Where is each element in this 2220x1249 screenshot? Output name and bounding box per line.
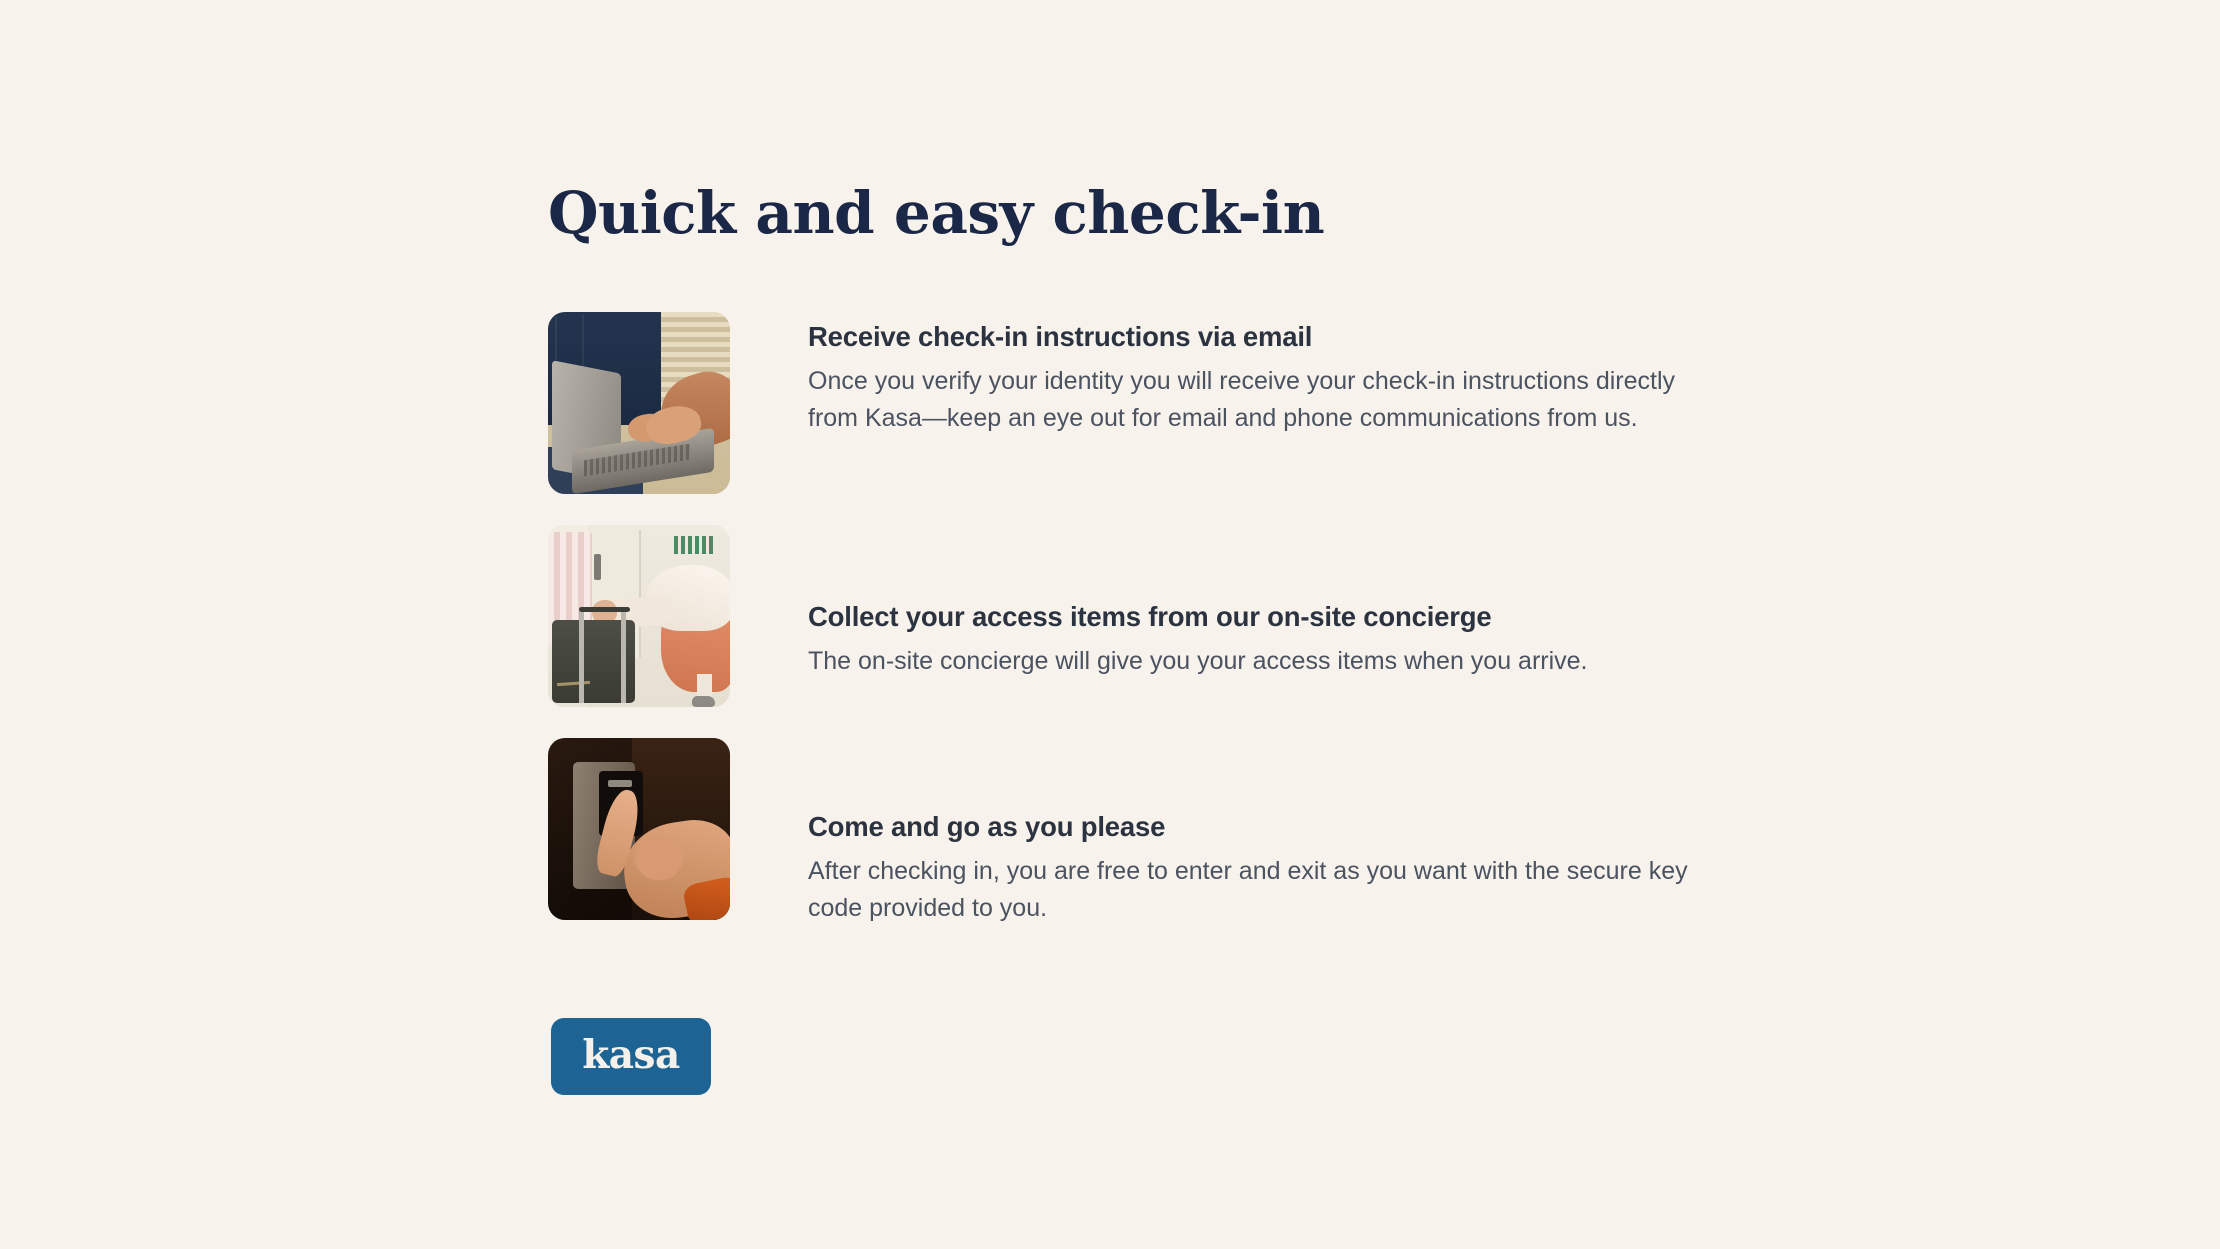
page-title: Quick and easy check-in bbox=[548, 182, 1324, 246]
laptop-scene-illustration bbox=[548, 312, 730, 494]
list-item: Come and go as you please After checking… bbox=[548, 738, 1848, 927]
lock-led-shape bbox=[608, 780, 632, 787]
kasa-logo-text: kasa bbox=[582, 1036, 680, 1078]
luggage-handle-grip-shape bbox=[579, 607, 630, 612]
door-handle-shape bbox=[594, 554, 601, 579]
exit-sign-shape bbox=[674, 536, 714, 554]
list-item: Receive check-in instructions via email … bbox=[548, 312, 1848, 494]
check-in-steps-list: Receive check-in instructions via email … bbox=[548, 312, 1848, 958]
step-body: Collect your access items from our on-si… bbox=[808, 525, 1588, 680]
kasa-logo: kasa bbox=[551, 1018, 711, 1095]
luggage-handle-bar-shape bbox=[579, 609, 584, 704]
step-heading: Come and go as you please bbox=[808, 810, 1688, 844]
check-in-info-page: Quick and easy check-in bbox=[0, 0, 2220, 1249]
shoe-shape bbox=[692, 696, 716, 707]
person-typing-on-laptop-photo bbox=[548, 312, 730, 494]
suitcase-stripe-shape bbox=[557, 680, 591, 686]
step-heading: Collect your access items from our on-si… bbox=[808, 600, 1588, 634]
list-item: Collect your access items from our on-si… bbox=[548, 525, 1848, 707]
step-description: The on-site concierge will give you your… bbox=[808, 643, 1588, 680]
traveler-with-luggage-at-lobby-photo bbox=[548, 525, 730, 707]
step-body: Receive check-in instructions via email … bbox=[808, 312, 1688, 437]
step-heading: Receive check-in instructions via email bbox=[808, 320, 1688, 354]
lobby-scene-illustration bbox=[548, 525, 730, 707]
knuckle-shape bbox=[635, 836, 682, 880]
luggage-handle-bar-shape bbox=[621, 609, 626, 704]
step-body: Come and go as you please After checking… bbox=[808, 738, 1688, 927]
step-description: Once you verify your identity you will r… bbox=[808, 363, 1688, 437]
step-description: After checking in, you are free to enter… bbox=[808, 853, 1688, 927]
smart-lock-scene-illustration bbox=[548, 738, 730, 920]
hand-pressing-smart-lock-keypad-photo bbox=[548, 738, 730, 920]
